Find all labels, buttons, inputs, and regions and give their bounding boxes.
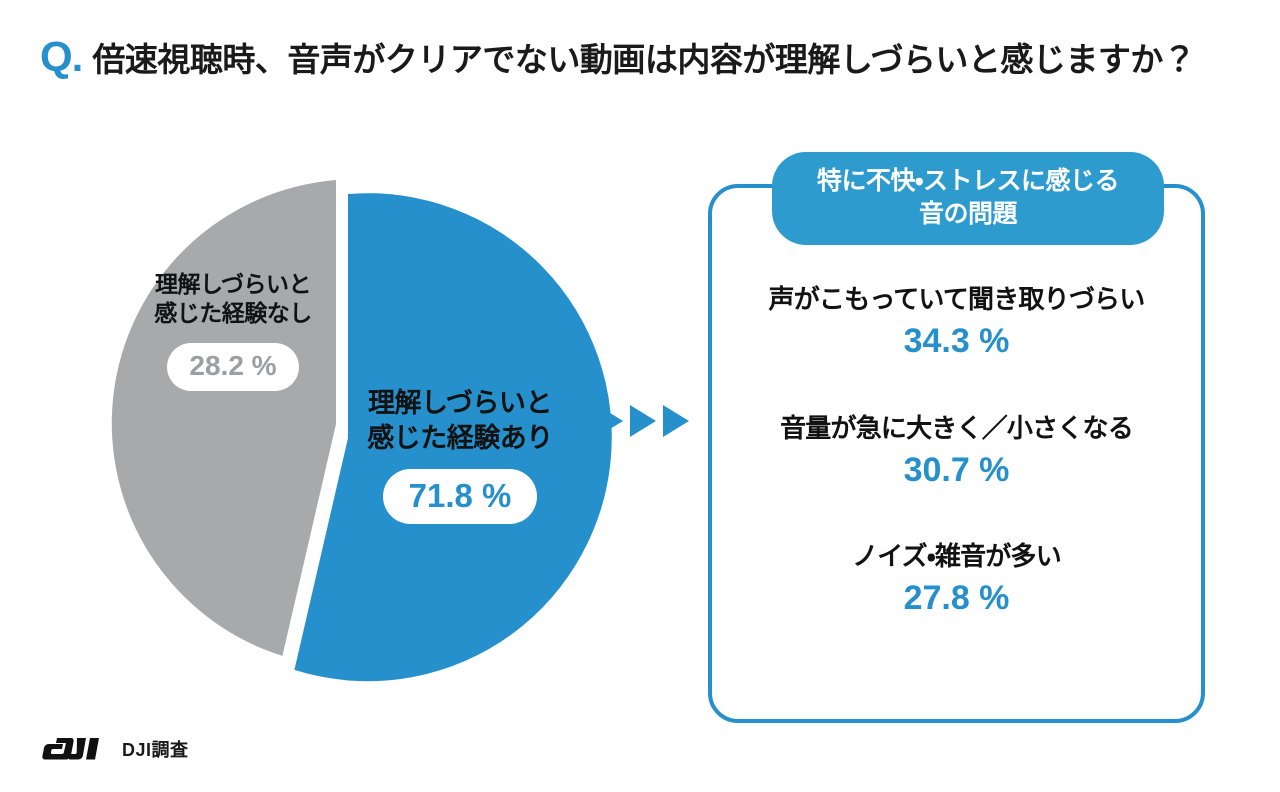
list-item-value: 34.3 % — [722, 323, 1191, 360]
triangle-right-icon — [663, 405, 689, 437]
list-item-label: ノイズ・雑音が多い — [722, 541, 1191, 572]
panel-header-line1: 特に不快・ストレスに感じる — [782, 165, 1154, 198]
list-item-label: 音量が急に大きく／小さくなる — [722, 413, 1191, 444]
dji-logo — [42, 736, 104, 762]
panel-header-pill: 特に不快・ストレスに感じる 音の問題 — [772, 152, 1164, 245]
list-item-value: 30.7 % — [722, 452, 1191, 489]
panel-header-line2: 音の問題 — [782, 198, 1154, 231]
arrow-group — [597, 405, 689, 437]
footer-text: DJI調査 — [122, 736, 189, 762]
pie-chart-svg — [96, 186, 596, 686]
list-item-value: 27.8 % — [722, 580, 1191, 617]
sound-issues-panel: 声がこもっていて聞き取りづらい 34.3 % 音量が急に大きく／小さくなる 30… — [708, 184, 1205, 723]
list-item: 音量が急に大きく／小さくなる 30.7 % — [712, 413, 1201, 490]
page-header: Q. 倍速視聴時、音声がクリアでない動画は内容が理解しづらいと感じますか？ — [40, 36, 1250, 78]
pie-slice-yes — [294, 193, 611, 681]
list-item: 声がこもっていて聞き取りづらい 34.3 % — [712, 284, 1201, 361]
page-title: 倍速視聴時、音声がクリアでない動画は内容が理解しづらいと感じますか？ — [92, 42, 1195, 78]
footer: DJI調査 — [42, 736, 189, 762]
sound-issues-list: 声がこもっていて聞き取りづらい 34.3 % 音量が急に大きく／小さくなる 30… — [712, 284, 1201, 618]
pie-chart: 理解しづらいと 感じた経験なし 28.2 % 理解しづらいと 感じた経験あり 7… — [96, 186, 596, 686]
list-item: ノイズ・雑音が多い 27.8 % — [712, 541, 1201, 618]
pie-slice-no — [112, 180, 336, 656]
list-item-label: 声がこもっていて聞き取りづらい — [722, 284, 1191, 315]
triangle-right-icon — [597, 405, 623, 437]
question-marker: Q. — [40, 36, 82, 78]
triangle-right-icon — [630, 405, 656, 437]
